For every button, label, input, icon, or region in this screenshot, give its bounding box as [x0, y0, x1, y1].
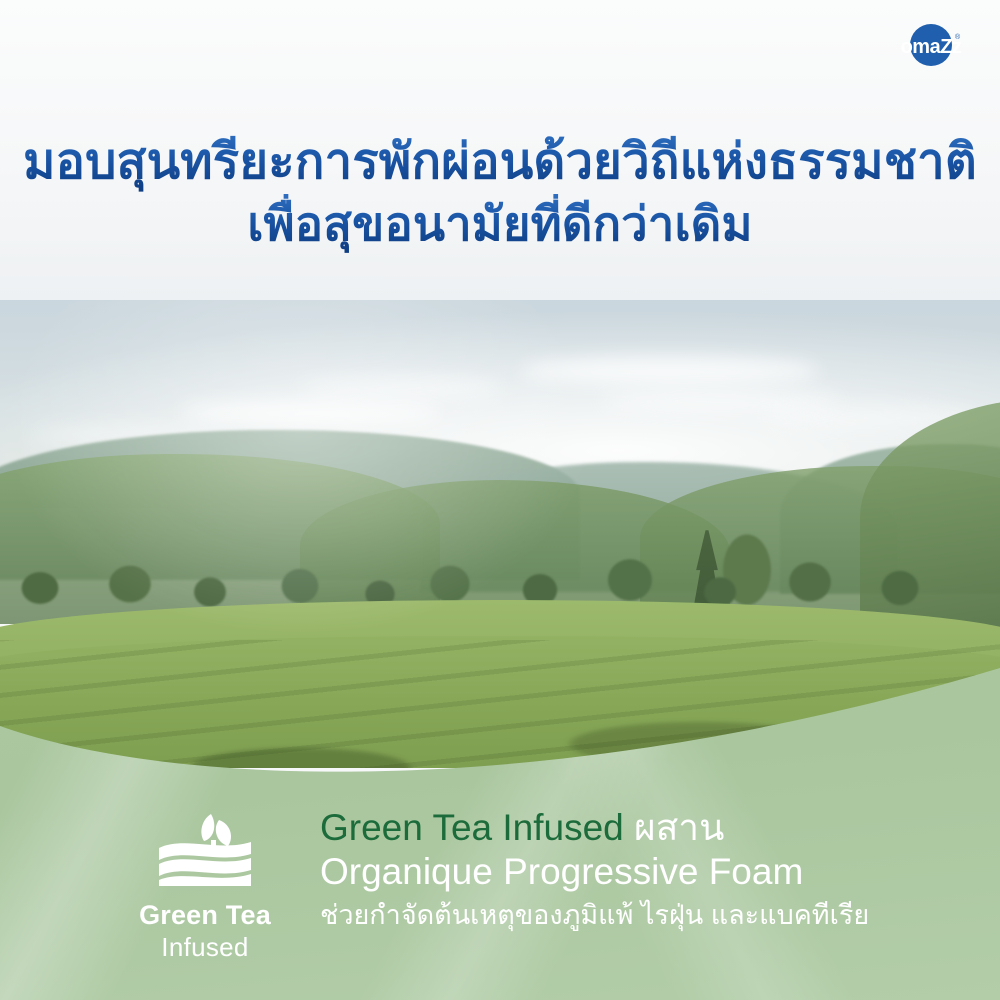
svg-text:omaZz: omaZz	[901, 36, 962, 58]
promo-poster: omaZz ® มอบสุนทรียะการพักผ่อนด้วยวิถีแห่…	[0, 0, 1000, 1000]
footer-line-1: Green Tea Infused ผสาน	[320, 806, 960, 850]
badge-title: Green Tea	[112, 900, 298, 931]
svg-text:®: ®	[955, 33, 961, 41]
cloud	[300, 378, 500, 398]
footer-copy: Green Tea Infused ผสาน Organique Progres…	[320, 806, 960, 932]
footer-line-1-en: Green Tea Infused	[320, 807, 624, 848]
footer-line-2: Organique Progressive Foam	[320, 850, 960, 894]
green-tea-infused-badge: Green Tea Infused	[112, 808, 298, 958]
headline-line-2: เพื่อสุขอนามัยที่ดีกว่าเดิม	[0, 194, 1000, 253]
cloud	[520, 356, 820, 386]
badge-subtitle: Infused	[112, 932, 298, 963]
omazz-logo[interactable]: omaZz ®	[898, 22, 970, 68]
footer-line-1-th: ผสาน	[634, 807, 724, 848]
omazz-circle-logo: omaZz ®	[898, 22, 970, 68]
headline: มอบสุนทรียะการพักผ่อนด้วยวิถีแห่งธรรมชาต…	[0, 132, 1000, 253]
tea-field-arcs	[0, 648, 1000, 768]
footer-line-3: ช่วยกำจัดต้นเหตุของภูมิแพ้ ไรฝุ่น และแบค…	[320, 899, 960, 931]
landscape-photo	[0, 248, 1000, 768]
cloud	[180, 400, 440, 426]
tea-leaf-field-icon	[149, 808, 261, 892]
headline-line-1: มอบสุนทรียะการพักผ่อนด้วยวิถีแห่งธรรมชาต…	[0, 132, 1000, 194]
